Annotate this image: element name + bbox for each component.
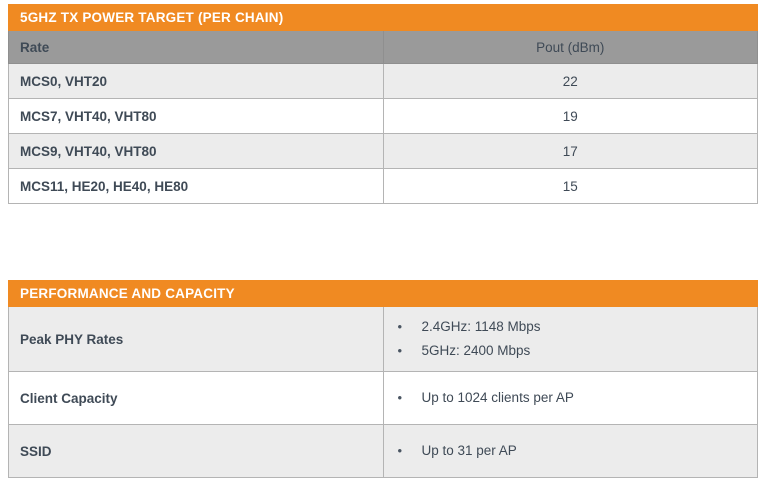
- list-item: • 5GHz: 2400 Mbps: [384, 339, 758, 363]
- column-header-pout: Pout (dBm): [383, 31, 758, 64]
- bullet-list: • Up to 1024 clients per AP: [384, 386, 758, 410]
- column-header-rate: Rate: [9, 31, 384, 64]
- rate-label: MCS0, VHT20: [9, 64, 384, 99]
- table-column-header-row: Rate Pout (dBm): [9, 31, 758, 64]
- table-row: MCS11, HE20, HE40, HE80 15: [9, 169, 758, 204]
- metric-values: • Up to 31 per AP: [383, 425, 758, 478]
- tx-power-target-table: 5GHZ TX POWER TARGET (PER CHAIN) Rate Po…: [8, 4, 758, 204]
- pout-value: 17: [383, 134, 758, 169]
- bullet-list: • 2.4GHz: 1148 Mbps • 5GHz: 2400 Mbps: [384, 315, 758, 363]
- pout-value: 19: [383, 99, 758, 134]
- list-item: • Up to 1024 clients per AP: [384, 386, 758, 410]
- pout-value: 15: [383, 169, 758, 204]
- list-item-label: Up to 1024 clients per AP: [422, 390, 574, 405]
- table-row: Peak PHY Rates • 2.4GHz: 1148 Mbps • 5GH…: [9, 307, 758, 372]
- bullet-icon: •: [398, 339, 403, 363]
- metric-label: SSID: [9, 425, 384, 478]
- rate-label: MCS11, HE20, HE40, HE80: [9, 169, 384, 204]
- list-item-label: Up to 31 per AP: [422, 443, 517, 458]
- list-item-label: 5GHz: 2400 Mbps: [422, 343, 531, 358]
- bullet-list: • Up to 31 per AP: [384, 439, 758, 463]
- table-banner-row: 5GHZ TX POWER TARGET (PER CHAIN): [9, 5, 758, 31]
- list-item-label: 2.4GHz: 1148 Mbps: [422, 319, 541, 334]
- bullet-icon: •: [398, 439, 403, 463]
- table-banner-row: PERFORMANCE AND CAPACITY: [9, 281, 758, 307]
- pout-value: 22: [383, 64, 758, 99]
- metric-label: Client Capacity: [9, 372, 384, 425]
- metric-values: • 2.4GHz: 1148 Mbps • 5GHz: 2400 Mbps: [383, 307, 758, 372]
- list-item: • 2.4GHz: 1148 Mbps: [384, 315, 758, 339]
- performance-capacity-table: PERFORMANCE AND CAPACITY Peak PHY Rates …: [8, 280, 758, 478]
- table-row: MCS0, VHT20 22: [9, 64, 758, 99]
- list-item: • Up to 31 per AP: [384, 439, 758, 463]
- table-row: MCS9, VHT40, VHT80 17: [9, 134, 758, 169]
- bullet-icon: •: [398, 315, 403, 339]
- table-row: SSID • Up to 31 per AP: [9, 425, 758, 478]
- rate-label: MCS9, VHT40, VHT80: [9, 134, 384, 169]
- table-row: Client Capacity • Up to 1024 clients per…: [9, 372, 758, 425]
- table-row: MCS7, VHT40, VHT80 19: [9, 99, 758, 134]
- rate-label: MCS7, VHT40, VHT80: [9, 99, 384, 134]
- spec-sheet: 5GHZ TX POWER TARGET (PER CHAIN) Rate Po…: [0, 0, 764, 431]
- bullet-icon: •: [398, 386, 403, 410]
- metric-label: Peak PHY Rates: [9, 307, 384, 372]
- metric-values: • Up to 1024 clients per AP: [383, 372, 758, 425]
- table-banner-title: 5GHZ TX POWER TARGET (PER CHAIN): [9, 5, 758, 31]
- table-banner-title: PERFORMANCE AND CAPACITY: [9, 281, 758, 307]
